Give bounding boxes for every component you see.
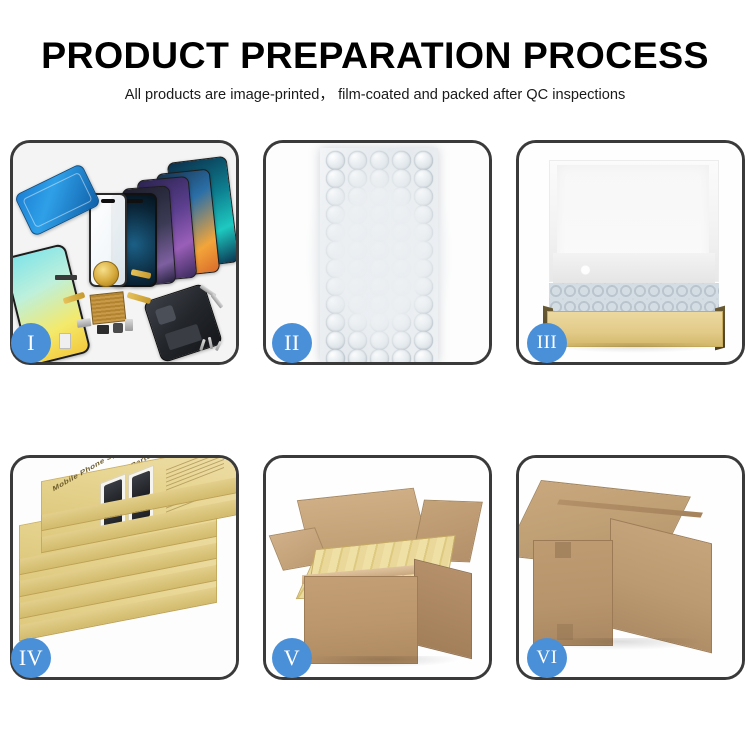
step-badge-5: V: [272, 638, 312, 678]
step-4-image: Mobile Phone Spare Parts Mobile Phone Sp…: [13, 458, 236, 677]
step-badge-2: II: [272, 323, 312, 363]
notch: [101, 199, 116, 203]
drop-shadow: [541, 638, 701, 650]
camera-part: [113, 323, 123, 333]
drop-shadow: [306, 656, 458, 667]
foam-insert: [553, 253, 715, 287]
product-preparation-infographic: PRODUCT PREPARATION PROCESS All products…: [0, 0, 750, 750]
carton-side: [610, 518, 712, 653]
metal-bracket-part: [77, 318, 92, 328]
box-front-kraft: [547, 311, 723, 347]
spare-part: [55, 275, 77, 280]
carton-front: [304, 576, 418, 664]
bubble-grid: [324, 151, 434, 360]
step-badge-6: VI: [527, 638, 567, 678]
carton-tape-upper: [555, 542, 571, 558]
step-1-image: [13, 143, 236, 362]
step-badge-4: IV: [11, 638, 51, 678]
bubble-wrap-sheet: [320, 148, 438, 362]
steps-grid: I: [0, 0, 750, 750]
drop-shadow: [553, 343, 715, 353]
speaker-part: [97, 325, 109, 334]
step-badge-1: I: [11, 323, 51, 363]
small-part: [59, 333, 71, 349]
step-badge-3: III: [527, 323, 567, 363]
carton-side: [414, 559, 472, 659]
connector-grid-part: [90, 291, 127, 324]
carton-front: [533, 540, 613, 646]
retail-box-stack: Mobile Phone Spare Parts Mobile Phone Sp…: [13, 476, 236, 671]
tool-part: [210, 293, 223, 308]
notch: [125, 199, 143, 203]
sim-tray-part: [125, 319, 133, 331]
flex-cable-part: [127, 292, 152, 304]
gold-coil-part: [93, 261, 119, 287]
retail-box-printed: Mobile Phone Spare Parts: [41, 462, 236, 502]
